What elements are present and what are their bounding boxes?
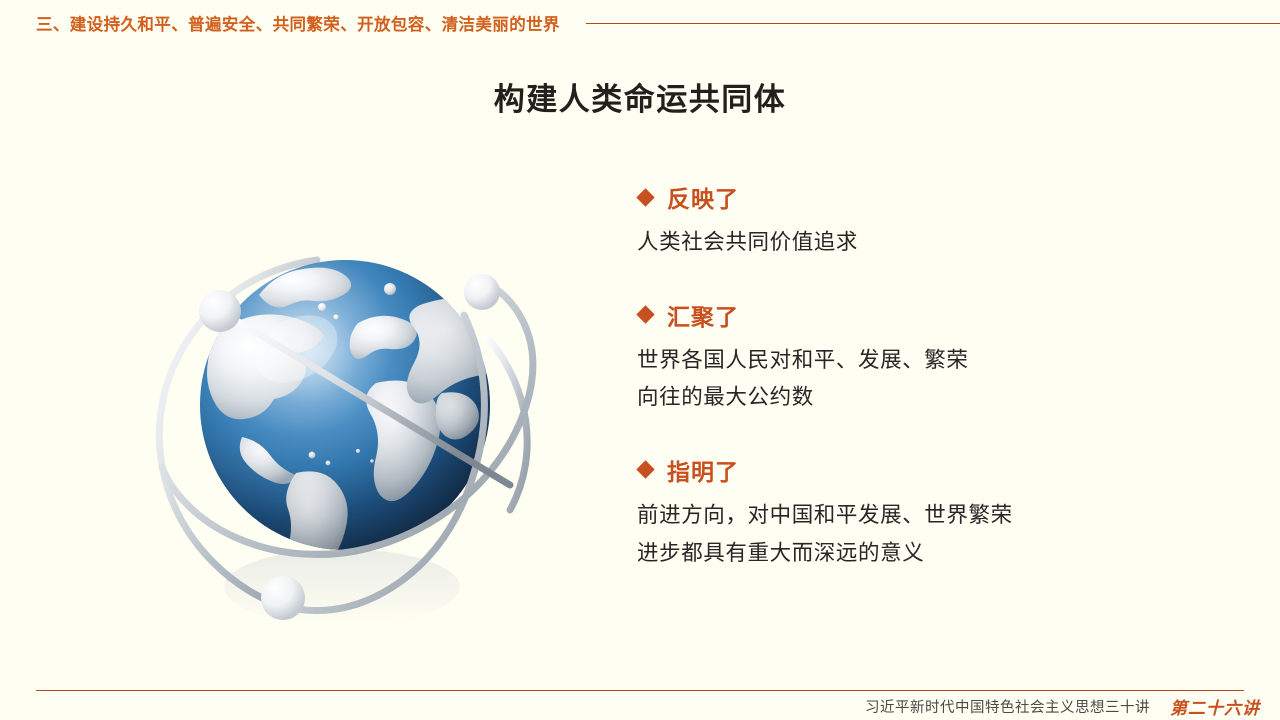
point-header: 反映了 [637,180,1237,214]
header-divider [586,23,1280,24]
point-title: 指明了 [667,453,739,487]
slide-header: 三、建设持久和平、普遍安全、共同繁荣、开放包容、清洁美丽的世界 [0,0,1280,46]
page-title: 构建人类命运共同体 [0,74,1280,119]
point-item: 汇聚了 世界各国人民对和平、发展、繁荣 向往的最大公约数 [637,298,1237,417]
point-line: 向往的最大公约数 [637,379,1237,417]
section-heading: 三、建设持久和平、普遍安全、共同繁荣、开放包容、清洁美丽的世界 [36,11,560,35]
footer-divider [36,690,1244,691]
point-item: 反映了 人类社会共同价值追求 [637,180,1237,262]
point-line: 进步都具有重大而深远的意义 [637,535,1237,573]
slide: 三、建设持久和平、普遍安全、共同繁荣、开放包容、清洁美丽的世界 构建人类命运共同… [0,0,1280,720]
point-title: 汇聚了 [667,298,739,332]
orbit-node-left [199,290,241,332]
points-list: 反映了 人类社会共同价值追求 汇聚了 世界各国人民对和平、发展、繁荣 向往的最大… [637,180,1237,572]
diamond-bullet-icon [636,305,654,323]
point-item: 指明了 前进方向，对中国和平发展、世界繁荣 进步都具有重大而深远的意义 [637,453,1237,572]
point-header: 汇聚了 [637,298,1237,332]
point-line: 世界各国人民对和平、发展、繁荣 [637,342,1237,380]
orbit-node-right [464,274,500,310]
point-title: 反映了 [667,180,739,214]
diamond-bullet-icon [636,461,654,479]
point-line: 前进方向，对中国和平发展、世界繁荣 [637,497,1237,535]
globe-shading [200,260,490,550]
footer-lecture-number: 第二十六讲 [1170,694,1260,719]
diamond-bullet-icon [636,188,654,206]
slide-footer: 习近平新时代中国特色社会主义思想三十讲 第二十六讲 [0,692,1280,720]
footer-series-title: 习近平新时代中国特色社会主义思想三十讲 [865,696,1150,717]
orbit-node-bottom [261,576,305,620]
point-header: 指明了 [637,453,1237,487]
point-line: 人类社会共同价值追求 [637,224,1237,262]
globe-illustration [90,155,600,665]
